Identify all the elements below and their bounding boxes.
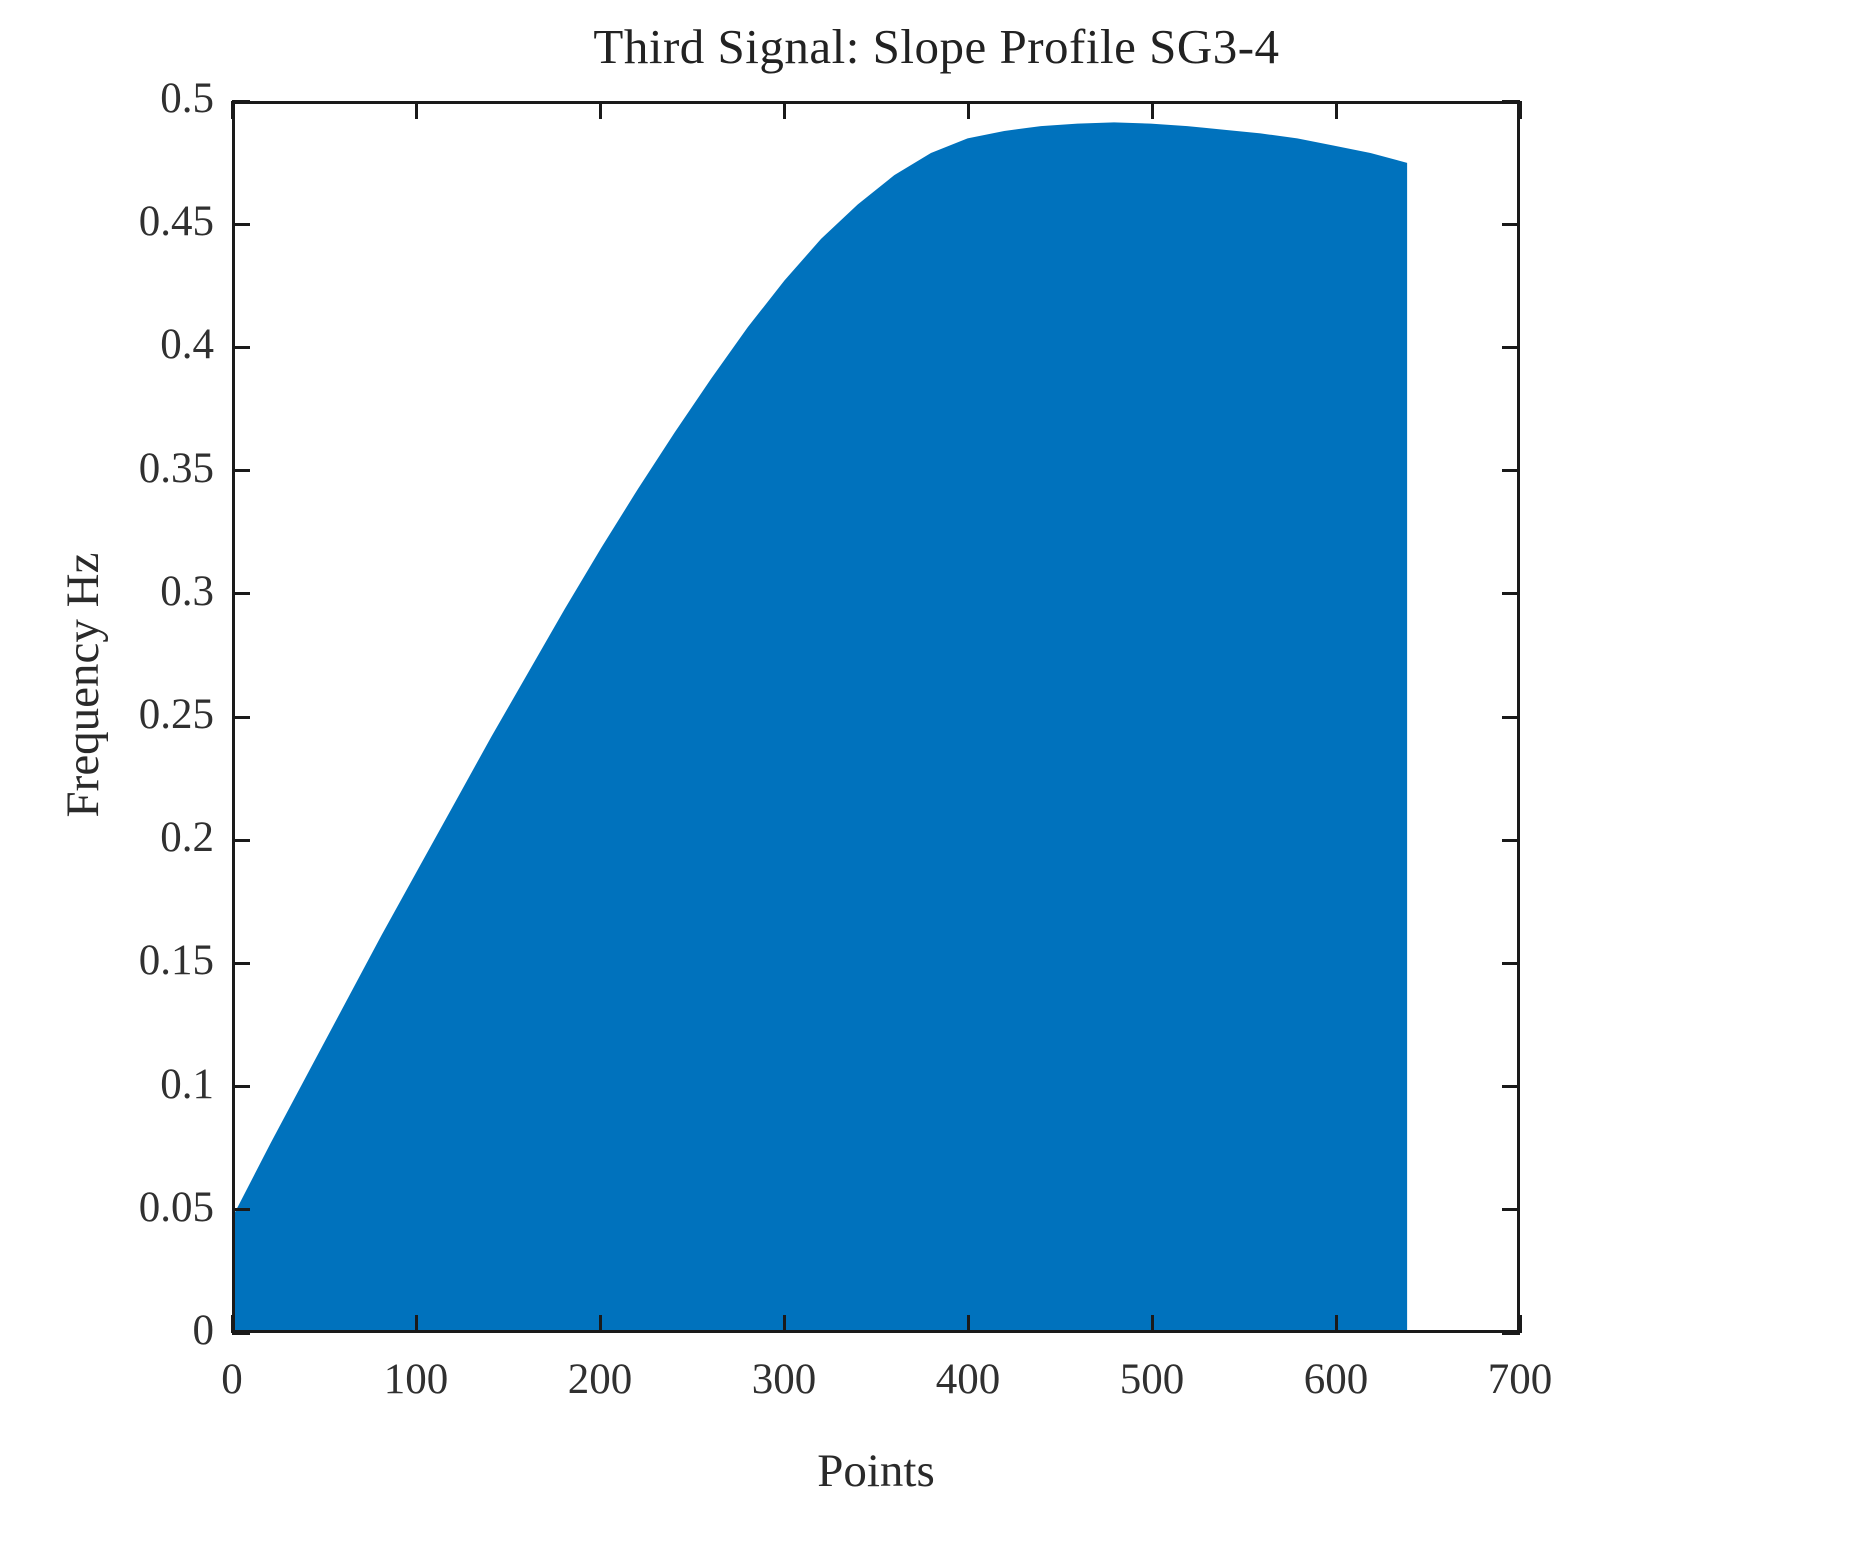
y-tick-mark [232,592,250,595]
y-tick-label: 0.45 [14,197,214,246]
y-tick-mark [1502,839,1520,842]
y-tick-label: 0.1 [14,1060,214,1109]
y-tick-mark [232,100,250,103]
y-tick-label: 0 [14,1306,214,1355]
y-axis-title: Frequency Hz [56,305,110,1065]
y-tick-mark [1502,1085,1520,1088]
x-tick-mark [231,1315,234,1333]
y-tick-mark [232,839,250,842]
chart-title: Third Signal: Slope Profile SG3-4 [0,18,1873,75]
x-tick-mark [415,101,418,119]
x-tick-label: 200 [500,1355,700,1404]
x-tick-mark [783,1315,786,1333]
x-tick-label: 700 [1420,1355,1620,1404]
x-tick-label: 300 [684,1355,884,1404]
x-tick-mark [1519,1315,1522,1333]
y-tick-mark [1502,346,1520,349]
y-tick-mark [232,223,250,226]
x-tick-label: 600 [1236,1355,1436,1404]
x-tick-mark [783,101,786,119]
x-tick-mark [599,101,602,119]
y-tick-label: 0.15 [14,936,214,985]
series-fill-path [235,122,1407,1330]
x-tick-mark [967,1315,970,1333]
y-tick-mark [1502,223,1520,226]
x-tick-mark [599,1315,602,1333]
y-tick-mark [232,346,250,349]
y-tick-label: 0.5 [14,74,214,123]
y-tick-mark [232,716,250,719]
x-tick-mark [1519,101,1522,119]
x-tick-mark [1335,101,1338,119]
x-tick-label: 500 [1052,1355,1252,1404]
x-tick-label: 100 [316,1355,516,1404]
y-tick-mark [1502,716,1520,719]
y-tick-mark [232,962,250,965]
y-tick-label: 0.4 [14,320,214,369]
y-tick-mark [1502,1208,1520,1211]
x-tick-label: 400 [868,1355,1068,1404]
y-tick-mark [232,469,250,472]
y-tick-mark [1502,962,1520,965]
y-tick-label: 0.05 [14,1183,214,1232]
figure-canvas: Third Signal: Slope Profile SG3-4 010020… [0,0,1873,1541]
y-tick-label: 0.25 [14,690,214,739]
y-tick-label: 0.3 [14,567,214,616]
y-tick-mark [232,1332,250,1335]
x-tick-mark [415,1315,418,1333]
x-tick-label: 0 [132,1355,332,1404]
x-tick-mark [1151,1315,1154,1333]
plot-area [232,101,1520,1333]
x-tick-mark [967,101,970,119]
data-series-area [235,104,1517,1330]
x-tick-mark [1335,1315,1338,1333]
y-tick-mark [1502,100,1520,103]
x-axis-title: Points [232,1444,1520,1498]
y-tick-mark [232,1208,250,1211]
x-tick-mark [1151,101,1154,119]
y-tick-label: 0.2 [14,813,214,862]
y-tick-mark [1502,1332,1520,1335]
y-tick-mark [1502,469,1520,472]
y-tick-mark [1502,592,1520,595]
y-tick-label: 0.35 [14,444,214,493]
y-tick-mark [232,1085,250,1088]
x-tick-mark [231,101,234,119]
